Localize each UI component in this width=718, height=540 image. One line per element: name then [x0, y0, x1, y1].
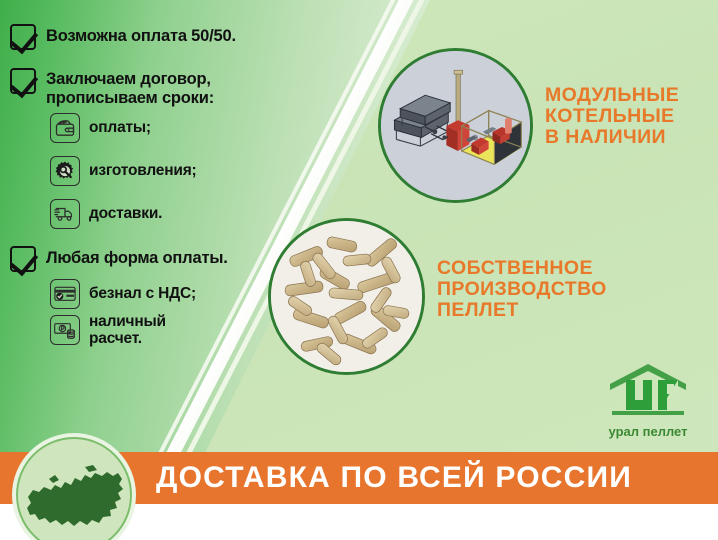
checklist-item-label: Заключаем договор, прописываем сроки: — [46, 70, 214, 108]
checklist-item-any-payment-form: Любая форма оплаты. — [10, 246, 228, 272]
truck-icon — [50, 199, 80, 229]
payment-item-bank-transfer: безнал с НДС; — [50, 279, 196, 309]
payment-item-label: наличный расчет. — [89, 313, 166, 347]
brand-name: урал пеллет — [600, 424, 696, 439]
left-checklist-column: Возможна оплата 50/50. Заключаем договор… — [0, 0, 340, 440]
checklist-item-label: Любая форма оплаты. — [46, 249, 228, 268]
avito-wordmark: Avito — [648, 503, 710, 534]
promo-poster: Возможна оплата 50/50. Заключаем договор… — [0, 0, 718, 540]
terms-item-label: доставки. — [89, 205, 162, 222]
checkmark-icon — [10, 68, 36, 94]
avito-dots-icon — [619, 507, 645, 531]
headline-own-pellet-production: СОБСТВЕННОЕ ПРОИЗВОДСТВО ПЕЛЛЕТ — [437, 258, 607, 321]
terms-item-payment: оплаты; — [50, 113, 151, 143]
terms-item-label: изготовления; — [89, 162, 197, 179]
wood-pellets-image — [268, 218, 425, 375]
headline-modular-boilers: МОДУЛЬНЫЕ КОТЕЛЬНЫЕ В НАЛИЧИИ — [545, 85, 679, 148]
ural-pellet-house-icon — [600, 362, 696, 418]
checkmark-icon — [10, 24, 36, 50]
cash-icon — [50, 315, 80, 345]
terms-item-manufacturing: изготовления; — [50, 156, 197, 186]
avito-watermark: Avito — [619, 503, 710, 534]
delivery-banner-text: ДОСТАВКА ПО ВСЕЙ РОССИИ — [156, 458, 718, 498]
russia-map-icon — [25, 463, 127, 533]
checkmark-icon — [10, 246, 36, 272]
checklist-item-payment-5050: Возможна оплата 50/50. — [10, 24, 236, 50]
wallet-icon — [50, 113, 80, 143]
payment-item-label: безнал с НДС; — [89, 285, 196, 302]
brand-logo: урал пеллет — [600, 362, 696, 440]
terms-item-label: оплаты; — [89, 119, 151, 136]
terms-item-delivery: доставки. — [50, 199, 162, 229]
payment-item-cash: наличный расчет. — [50, 315, 166, 347]
checklist-item-contract: Заключаем договор, прописываем сроки: — [10, 68, 214, 108]
checklist-item-label: Возможна оплата 50/50. — [46, 27, 236, 46]
modular-boiler-image — [378, 48, 533, 203]
gear-wrench-icon — [50, 156, 80, 186]
credit-card-icon — [50, 279, 80, 309]
